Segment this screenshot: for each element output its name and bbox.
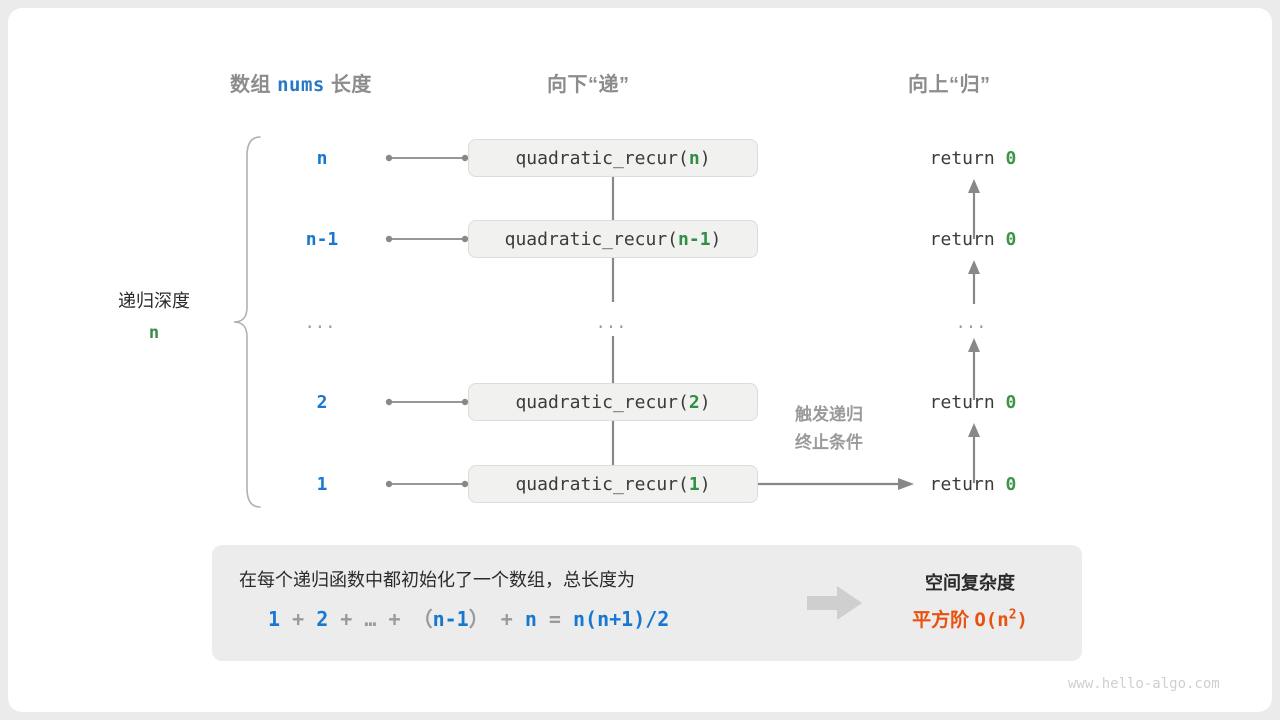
connector-row-1 — [384, 151, 470, 165]
return-row-1: return 0 — [888, 148, 1058, 169]
call-box-row-2[interactable]: quadratic_recur(n-1) — [468, 220, 758, 258]
header-ascend: 向上“归” — [908, 68, 991, 97]
call-arg-row-4: 2 — [689, 392, 700, 413]
formula-result: n(n+1)/2 — [573, 607, 669, 631]
ascend-arrow-3 — [965, 336, 983, 400]
formula-op-4: + — [501, 607, 513, 631]
header-array-code: nums — [277, 74, 325, 96]
return-label-row-4: return — [930, 392, 995, 413]
complexity-title: 空间复杂度 — [880, 569, 1060, 595]
formula-term-2: 2 — [316, 607, 328, 631]
termination-note-line1: 触发递归 — [795, 405, 863, 424]
return-label-row-5: return — [930, 474, 995, 495]
call-close-row-4: ) — [700, 392, 711, 413]
complexity-notation: O(n2) — [974, 609, 1028, 631]
header-array-length: 数组 nums 长度 — [230, 68, 372, 97]
return-value-row-4: 0 — [1006, 392, 1017, 413]
termination-note-line2: 终止条件 — [795, 433, 863, 452]
header-descend: 向下“递” — [547, 68, 630, 97]
return-row-2: return 0 — [888, 229, 1058, 250]
formula-paren-close: ） — [469, 607, 489, 631]
formula-term-1: 1 — [268, 607, 280, 631]
connector-row-2 — [384, 232, 470, 246]
return-row-4: return 0 — [888, 392, 1058, 413]
return-value-row-5: 0 — [1006, 474, 1017, 495]
right-arrow-icon — [807, 585, 863, 621]
watermark: www.hello-algo.com — [1068, 676, 1220, 692]
formula-op-1: + — [292, 607, 304, 631]
formula-op-3: + — [388, 607, 400, 631]
complexity-value: 平方阶 O(n2) — [880, 605, 1060, 632]
length-label-row-1: n — [272, 148, 372, 169]
recursion-depth-label: 递归深度 n — [94, 286, 214, 347]
length-label-row-3: ... — [272, 309, 372, 333]
diagram-card: 数组 nums 长度 向下“递” 向上“归” 递归深度 n n quadrati… — [8, 8, 1272, 712]
length-label-row-4: 2 — [272, 392, 372, 413]
call-box-row-5[interactable]: quadratic_recur(1) — [468, 465, 758, 503]
call-text-row-5: quadratic_recur( — [515, 474, 688, 495]
return-row-5: return 0 — [888, 474, 1058, 495]
formula-term-4: n-1 — [433, 607, 469, 631]
descend-arrow-2 — [604, 258, 622, 304]
return-value-row-2: 0 — [1006, 229, 1017, 250]
call-arg-row-2: n-1 — [678, 229, 711, 250]
ascend-arrow-2 — [965, 258, 983, 304]
length-label-row-5: 1 — [272, 474, 372, 495]
recursion-depth-text: 递归深度 — [118, 291, 190, 311]
termination-note: 触发递归 终止条件 — [764, 401, 894, 457]
formula-equals: = — [549, 607, 561, 631]
summary-text: 在每个递归函数中都初始化了一个数组，总长度为 — [239, 566, 635, 592]
connector-row-5 — [384, 477, 470, 491]
formula-ellipsis: … — [364, 607, 376, 631]
summary-panel: 在每个递归函数中都初始化了一个数组，总长度为 1 + 2 + … + （n-1）… — [212, 545, 1082, 661]
call-close-row-5: ) — [700, 474, 711, 495]
call-arg-row-5: 1 — [689, 474, 700, 495]
header-array-suffix: 长度 — [331, 74, 372, 96]
call-close-row-1: ) — [700, 148, 711, 169]
call-close-row-2: ) — [711, 229, 722, 250]
formula-op-2: + — [340, 607, 352, 631]
length-label-row-2: n-1 — [272, 229, 372, 250]
call-box-row-3: ... — [563, 309, 663, 333]
call-text-row-2: quadratic_recur( — [505, 229, 678, 250]
summary-formula: 1 + 2 + … + （n-1） + n = n(n+1)/2 — [268, 603, 669, 632]
call-box-row-4[interactable]: quadratic_recur(2) — [468, 383, 758, 421]
complexity-notation-pre: O(n — [974, 609, 1008, 631]
return-value-row-1: 0 — [1006, 148, 1017, 169]
recursion-depth-value: n — [149, 323, 159, 343]
header-array-prefix: 数组 — [230, 74, 271, 96]
complexity-notation-post: ) — [1016, 609, 1027, 631]
return-label-row-2: return — [930, 229, 995, 250]
return-label-row-1: return — [930, 148, 995, 169]
call-text-row-4: quadratic_recur( — [515, 392, 688, 413]
call-box-row-1[interactable]: quadratic_recur(n) — [468, 139, 758, 177]
complexity-label: 平方阶 — [912, 610, 969, 631]
call-arg-row-1: n — [689, 148, 700, 169]
call-text-row-1: quadratic_recur( — [515, 148, 688, 169]
recursion-depth-brace — [230, 134, 264, 510]
connector-row-4 — [384, 395, 470, 409]
return-row-3: ... — [923, 309, 1023, 333]
formula-term-5: n — [525, 607, 537, 631]
formula-paren-open: （ — [413, 607, 433, 631]
